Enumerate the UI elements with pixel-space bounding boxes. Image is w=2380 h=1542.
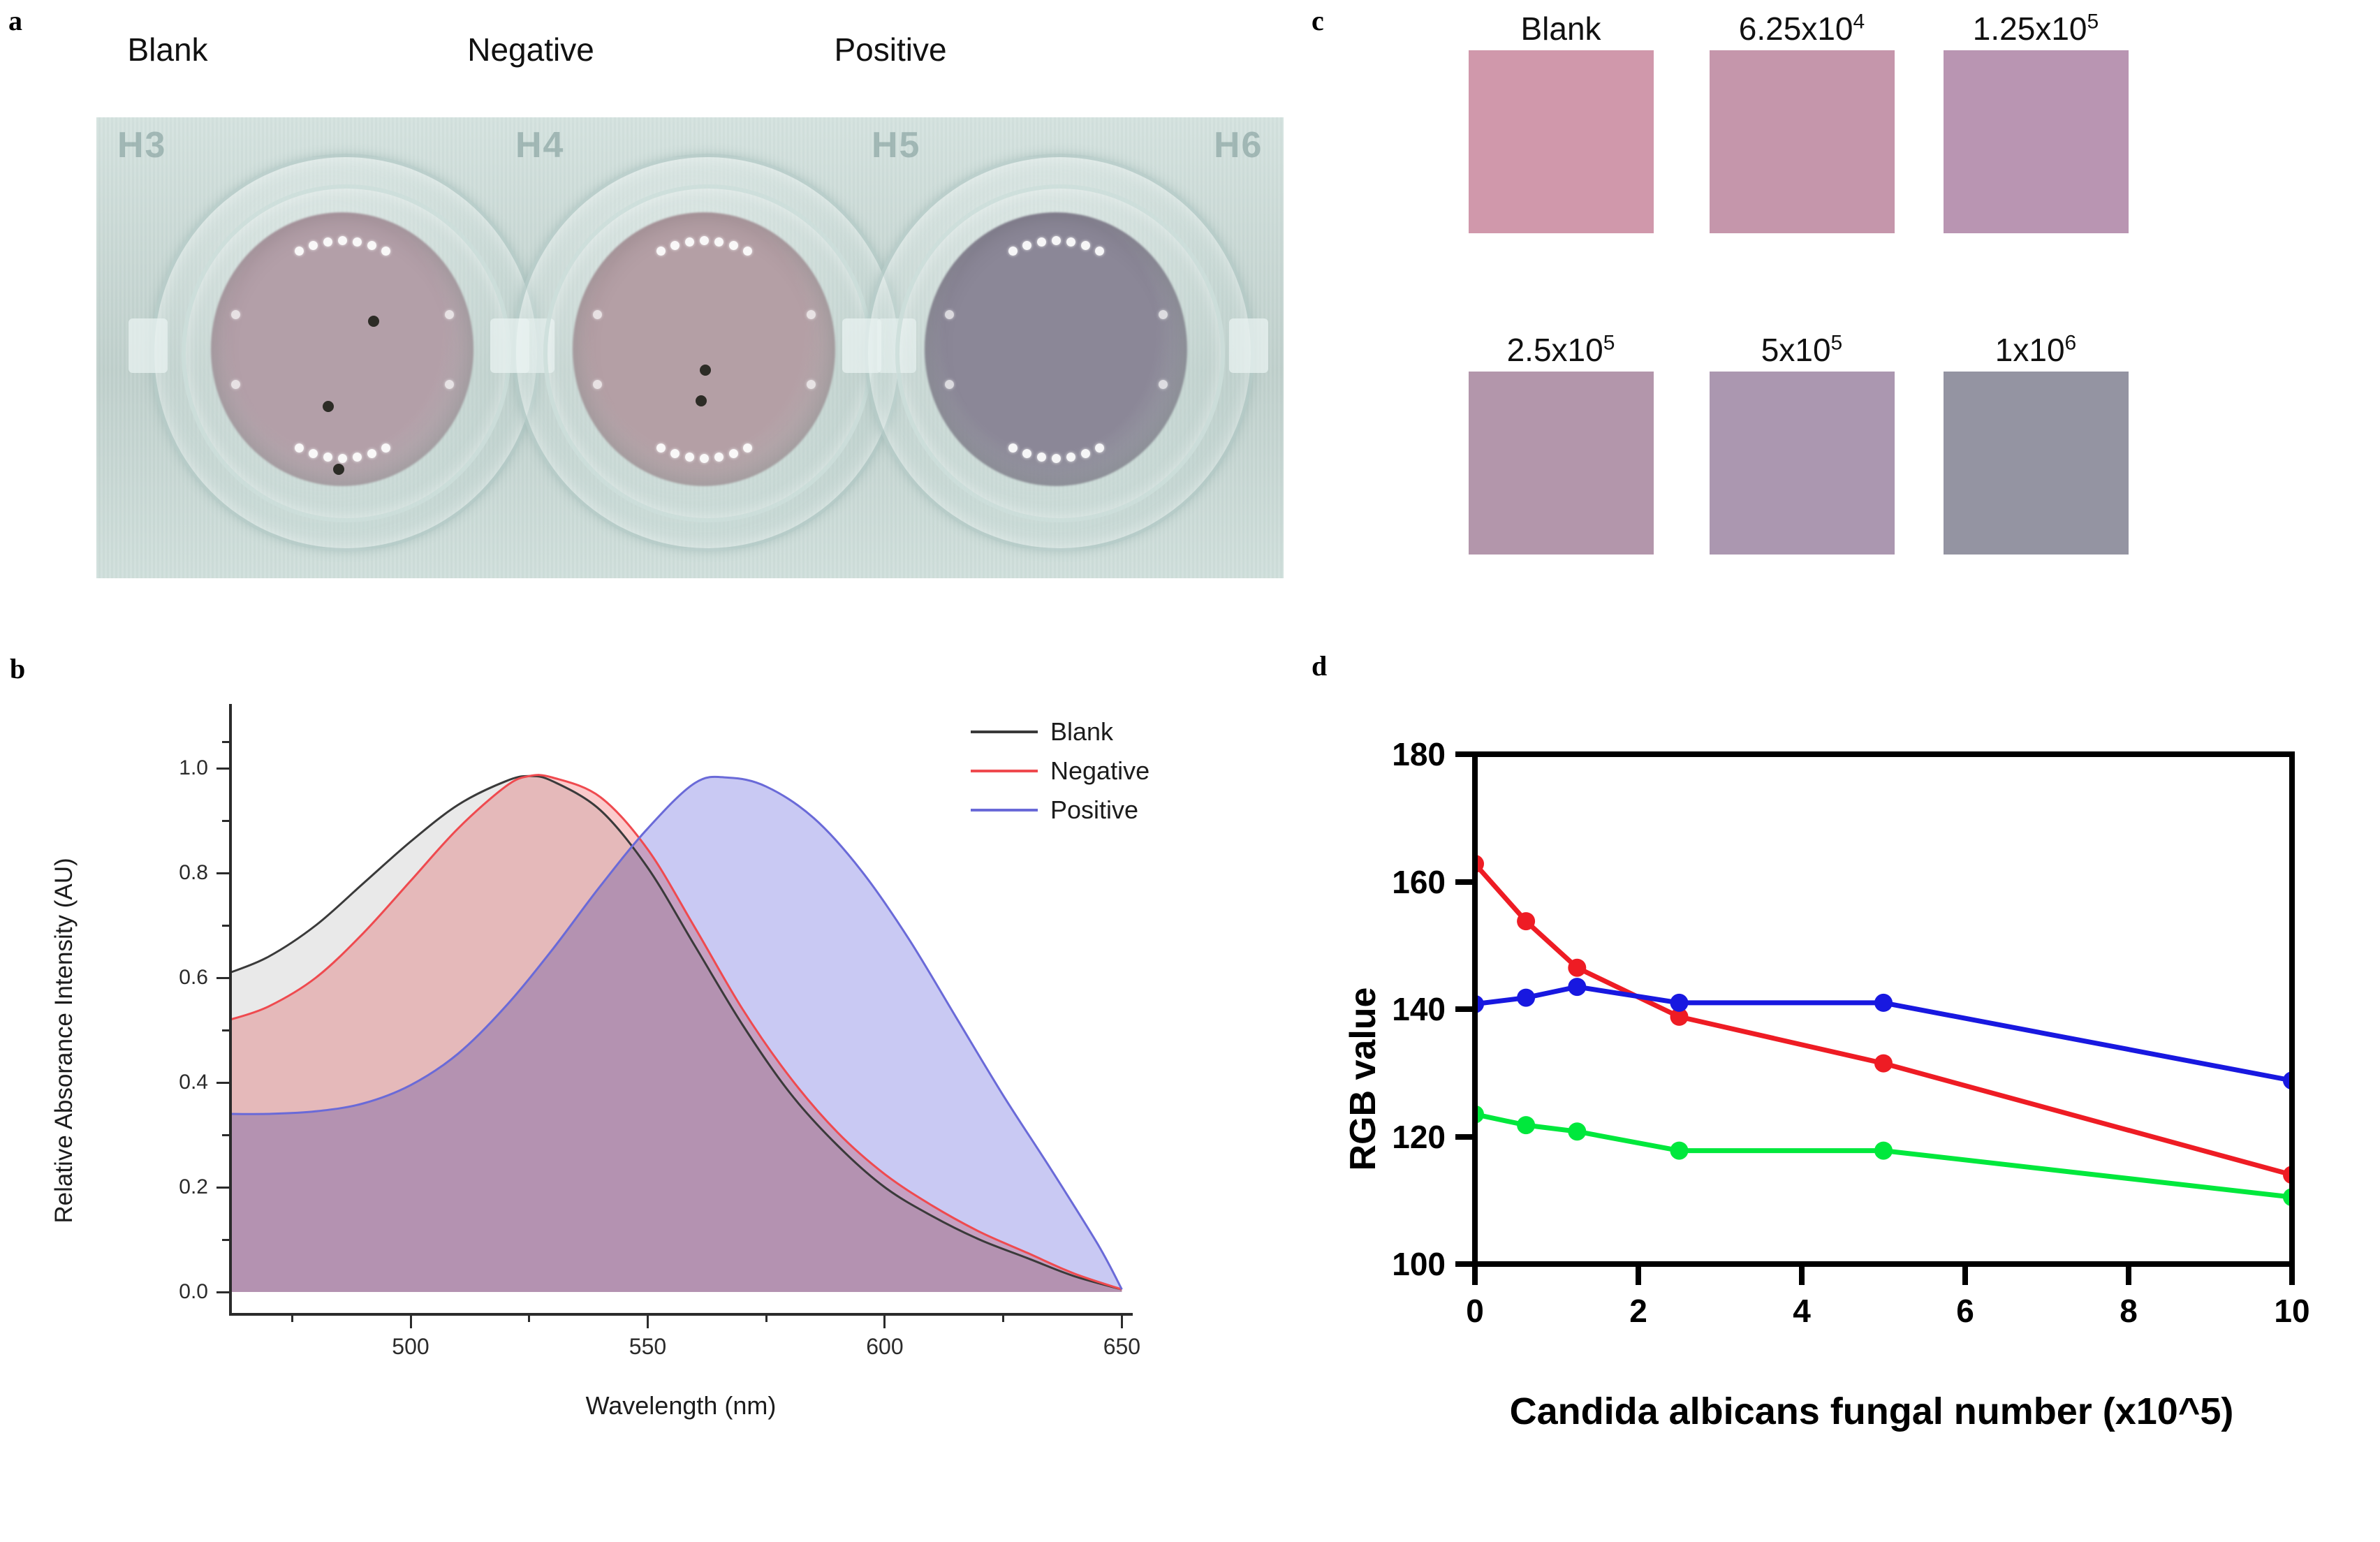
panel-c-swatch-label: 1x106 — [1931, 328, 2140, 372]
panel-b-y-tick-label: 0.2 — [179, 1175, 208, 1199]
well-dot — [353, 453, 362, 462]
well-dot-array-blank — [211, 212, 473, 486]
well-dot — [656, 443, 666, 453]
well-dot — [1037, 453, 1046, 462]
panel-a-column-label-positive: Positive — [754, 31, 1027, 68]
panel-d-y-tick — [1455, 1134, 1475, 1140]
well-dot — [338, 236, 347, 245]
panel-b-y-tick-label: 0.0 — [179, 1280, 208, 1304]
well-dot — [593, 310, 602, 319]
panel-d-y-axis-title: RGB value — [1342, 987, 1384, 1171]
panel-b-y-tick — [216, 768, 230, 770]
panel-d-letter: d — [1312, 649, 1327, 682]
panel-b-letter: b — [10, 652, 25, 685]
well-positive — [852, 144, 1257, 556]
panel-b-y-tick-label: 0.8 — [179, 861, 208, 885]
well-dot — [685, 453, 694, 462]
well-dot — [1081, 449, 1090, 458]
panel-c-swatch-label: 5x105 — [1697, 328, 1907, 372]
panel-b-y-minor-tick — [222, 1134, 230, 1136]
panel-b-y-tick — [216, 977, 230, 979]
well-dot — [1022, 449, 1031, 458]
well-dot — [353, 237, 362, 247]
panel-b-x-tick — [410, 1313, 412, 1328]
well-tab-left — [128, 318, 168, 373]
well-dot — [367, 241, 376, 250]
well-dot — [700, 454, 709, 463]
well-dot — [714, 453, 723, 462]
panel-c-swatch-cell: 6.25x104 — [1697, 7, 1907, 233]
legend-item-negative: Negative — [971, 751, 1149, 791]
well-dot — [1159, 380, 1168, 389]
panel-c-swatch-cell: Blank — [1456, 7, 1666, 233]
panel-a-column-label-negative: Negative — [391, 31, 670, 68]
panel-b-y-tick — [216, 1291, 230, 1293]
well-dot — [295, 247, 304, 256]
panel-d-x-tick — [1962, 1264, 1968, 1285]
well-dot — [381, 443, 390, 453]
panel-c: c Blank6.25x1041.25x1052.5x1055x1051x106 — [1299, 0, 2380, 649]
well-dot — [309, 241, 318, 250]
well-dot — [685, 237, 694, 247]
panel-b-y-tick — [216, 1082, 230, 1084]
legend-swatch-positive — [971, 809, 1038, 812]
panel-d-x-tick-label: 2 — [1629, 1292, 1647, 1330]
panel-b-x-minor-tick — [528, 1313, 530, 1322]
well-dot — [670, 241, 680, 250]
panel-a-letter: a — [8, 4, 22, 37]
well-dot — [309, 449, 318, 458]
well-dot — [729, 241, 738, 250]
panel-d-x-tick-label: 10 — [2274, 1292, 2309, 1330]
well-dot — [1066, 453, 1075, 462]
well-dot — [1052, 454, 1061, 463]
panel-d-y-tick-label: 160 — [1392, 863, 1446, 901]
panel-b-y-minor-tick — [222, 1029, 230, 1031]
panel-b-y-minor-tick — [222, 1239, 230, 1241]
panel-d-x-tick — [2289, 1264, 2295, 1285]
legend-swatch-negative — [971, 770, 1038, 772]
panel-c-swatch-label: 2.5x105 — [1456, 328, 1666, 372]
panel-c-swatch-exponent: 6 — [2065, 332, 2077, 355]
panel-b-y-axis-title: Relative Absorance Intensity (AU) — [50, 858, 78, 1223]
panel-c-swatch-exponent: 5 — [1603, 332, 1615, 355]
well-tab-left — [490, 318, 529, 373]
panel-b-y-tick — [216, 872, 230, 874]
well-dot — [1081, 241, 1090, 250]
well-tab-right — [1229, 318, 1268, 373]
well-dot — [231, 310, 240, 319]
panel-d-rgb-svg — [1475, 754, 2292, 1264]
panel-c-swatch-label: Blank — [1456, 7, 1666, 50]
well-dot — [1095, 443, 1104, 453]
panel-b-y-minor-tick — [222, 741, 230, 743]
well-dot — [1095, 247, 1104, 256]
well-dot — [295, 443, 304, 453]
panel-d-y-tick-label: 140 — [1392, 990, 1446, 1028]
well-dot — [729, 449, 738, 458]
well-dot — [700, 236, 709, 245]
panel-d-x-tick-label: 8 — [2120, 1292, 2138, 1330]
well-dark-speck — [333, 464, 344, 475]
panel-b-y-minor-tick — [222, 925, 230, 927]
well-dot — [945, 380, 954, 389]
panel-b-y-tick-label: 0.6 — [179, 966, 208, 990]
well-dot — [807, 380, 816, 389]
well-dark-speck — [696, 395, 707, 406]
well-dot — [1008, 247, 1018, 256]
panel-d-y-tick-label: 180 — [1392, 735, 1446, 773]
panel-c-color-swatch — [1710, 372, 1895, 555]
well-dot — [714, 237, 723, 247]
panel-d-y-tick — [1455, 751, 1475, 757]
panel-d-x-tick-label: 6 — [1956, 1292, 1974, 1330]
well-dark-speck — [323, 401, 334, 412]
legend-label-negative: Negative — [1050, 756, 1149, 786]
panel-b-x-tick-label: 600 — [866, 1334, 903, 1360]
panel-b-x-minor-tick — [765, 1313, 767, 1322]
well-dot — [1008, 443, 1018, 453]
well-dot — [743, 443, 752, 453]
panel-d-axis-bottom — [1472, 1261, 2295, 1267]
well-dot-array-positive — [925, 212, 1187, 486]
panel-a: a Blank Negative Positive H3 H4 H5 H6 — [0, 0, 1299, 649]
well-dot — [231, 380, 240, 389]
well-dot — [1066, 237, 1075, 247]
panel-b-legend: Blank Negative Positive — [971, 712, 1149, 830]
well-dot — [1052, 236, 1061, 245]
panel-b-y-tick-label: 1.0 — [179, 756, 208, 780]
panel-b-x-minor-tick — [291, 1313, 293, 1322]
panel-c-swatch-cell: 2.5x105 — [1456, 328, 1666, 555]
panel-b-y-axis — [229, 704, 232, 1314]
panel-a-column-label-blank: Blank — [42, 31, 293, 68]
panel-a-microplate-photo: H3 H4 H5 H6 — [96, 117, 1284, 578]
panel-d-x-tick — [2126, 1264, 2131, 1285]
panel-c-swatch-cell: 5x105 — [1697, 328, 1907, 555]
panel-c-swatch-cell: 1.25x105 — [1931, 7, 2140, 233]
panel-d-x-tick — [1799, 1264, 1805, 1285]
well-dot — [656, 247, 666, 256]
panel-b-x-tick — [1121, 1313, 1123, 1328]
panel-d-y-tick — [1455, 879, 1475, 885]
panel-d-plot-area: 1001201401601800246810 — [1475, 754, 2292, 1264]
well-dot — [807, 310, 816, 319]
panel-d-y-tick-label: 100 — [1392, 1245, 1446, 1283]
panel-d-x-tick — [1472, 1264, 1478, 1285]
well-dot — [338, 454, 347, 463]
panel-b-x-tick — [883, 1313, 886, 1328]
legend-label-positive: Positive — [1050, 795, 1138, 825]
well-dot — [1022, 241, 1031, 250]
well-dot — [1159, 310, 1168, 319]
well-dot — [367, 449, 376, 458]
well-dark-speck — [368, 316, 379, 327]
well-dot — [323, 237, 332, 247]
panel-b-x-axis — [229, 1313, 1133, 1316]
well-dot — [381, 247, 390, 256]
panel-c-color-swatch — [1944, 50, 2129, 233]
well-dot — [445, 380, 454, 389]
panel-d-x-tick-label: 0 — [1466, 1292, 1484, 1330]
panel-c-color-swatch — [1710, 50, 1895, 233]
panel-c-swatch-label: 6.25x104 — [1697, 7, 1907, 50]
panel-b-x-tick — [647, 1313, 649, 1328]
panel-c-color-swatch — [1469, 372, 1654, 555]
panel-b-x-tick-label: 650 — [1103, 1334, 1140, 1360]
panel-c-color-swatch — [1469, 50, 1654, 233]
panel-b-x-tick-label: 500 — [392, 1334, 429, 1360]
panel-b: b Relative Absorance Intensity (AU) Wave… — [0, 649, 1299, 1542]
well-dark-speck — [700, 365, 711, 376]
well-dot — [1037, 237, 1046, 247]
panel-c-swatch-exponent: 4 — [1853, 10, 1865, 34]
legend-item-positive: Positive — [971, 791, 1149, 830]
panel-d-x-axis-title: Candida albicans fungal number (x10^5) — [1510, 1390, 2234, 1433]
panel-c-swatch-label: 1.25x105 — [1931, 7, 2140, 50]
panel-b-y-tick — [216, 1187, 230, 1189]
legend-label-blank: Blank — [1050, 717, 1113, 747]
panel-b-y-tick-label: 0.4 — [179, 1071, 208, 1094]
well-dot-array-negative — [573, 212, 835, 486]
panel-b-y-minor-tick — [222, 820, 230, 822]
panel-d: d RGB value Candida albicans fungal numb… — [1299, 649, 2380, 1542]
panel-c-swatch-cell: 1x106 — [1931, 328, 2140, 555]
panel-d-x-tick-label: 4 — [1793, 1292, 1811, 1330]
well-dot — [445, 310, 454, 319]
panel-d-axis-top — [1472, 751, 2295, 757]
legend-item-blank: Blank — [971, 712, 1149, 751]
well-blank — [138, 144, 543, 556]
panel-b-x-axis-title: Wavelength (nm) — [586, 1391, 777, 1420]
well-tab-left — [842, 318, 881, 373]
panel-c-color-swatch — [1944, 372, 2129, 555]
panel-d-axis-right — [2289, 751, 2295, 1267]
well-dot — [743, 247, 752, 256]
panel-d-y-tick-label: 120 — [1392, 1118, 1446, 1156]
well-dot — [945, 310, 954, 319]
well-dot — [670, 449, 680, 458]
panel-b-x-tick-label: 550 — [629, 1334, 666, 1360]
panel-d-x-tick — [1636, 1264, 1641, 1285]
well-dot — [323, 453, 332, 462]
panel-d-y-tick — [1455, 1006, 1475, 1012]
legend-swatch-blank — [971, 730, 1038, 733]
panel-c-letter: c — [1312, 4, 1324, 37]
panel-b-x-minor-tick — [1002, 1313, 1004, 1322]
panel-c-swatch-exponent: 5 — [2087, 10, 2099, 34]
well-dot — [593, 380, 602, 389]
panel-c-swatch-exponent: 5 — [1831, 332, 1843, 355]
